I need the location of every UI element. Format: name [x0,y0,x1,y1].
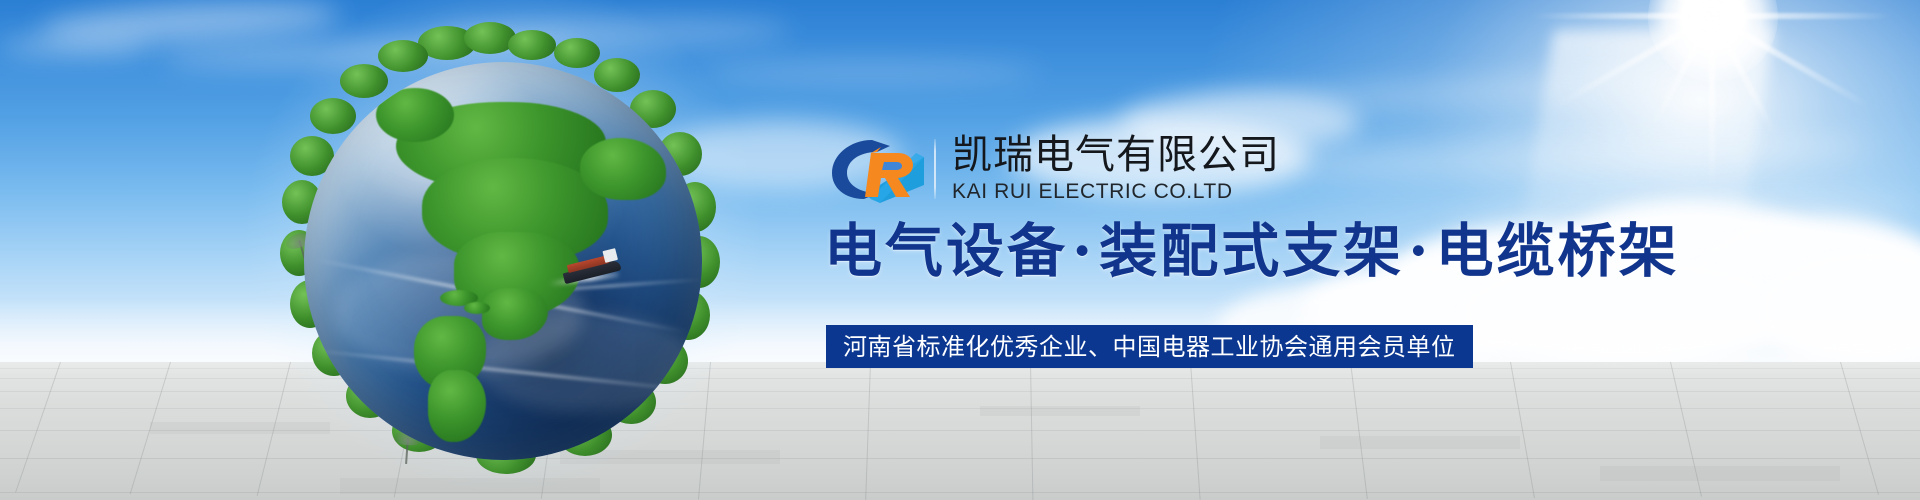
headline-part-2: 装配式支架 [1099,217,1404,285]
headline-part-3: 电缆桥架 [1435,217,1679,285]
tree-icon [340,64,388,98]
green-earth-globe [268,24,738,500]
continent-greenland [376,88,454,142]
page-title: 电气设备·装配式支架·电缆桥架 [824,222,1679,280]
tree-icon [378,40,428,72]
hero-banner: 凯瑞电气有限公司 KAI RUI ELECTRIC CO.LTD 电气设备·装配… [0,0,1920,500]
headline-part-1: 电气设备 [824,217,1068,285]
continent-south-america [428,370,486,442]
headline-separator: · [1068,217,1099,285]
globe-sphere [304,62,702,460]
brand-divider [934,139,936,199]
brand-names: 凯瑞电气有限公司 KAI RUI ELECTRIC CO.LTD [952,134,1280,205]
brand-lockup: 凯瑞电气有限公司 KAI RUI ELECTRIC CO.LTD [828,126,1280,212]
tree-icon [554,38,600,68]
headline-separator: · [1404,217,1435,285]
continent-caribbean [464,302,490,314]
tagline-badge: 河南省标准化优秀企业、中国电器工业协会通用会员单位 [826,325,1473,368]
continent-alaska [580,138,666,200]
company-name-cn: 凯瑞电气有限公司 [952,134,1280,176]
tagline-text: 河南省标准化优秀企业、中国电器工业协会通用会员单位 [843,335,1456,359]
tree-icon [310,98,356,134]
cr-monogram-logo-icon [828,133,924,205]
tree-icon [508,30,556,60]
company-name-en: KAI RUI ELECTRIC CO.LTD [952,179,1280,204]
